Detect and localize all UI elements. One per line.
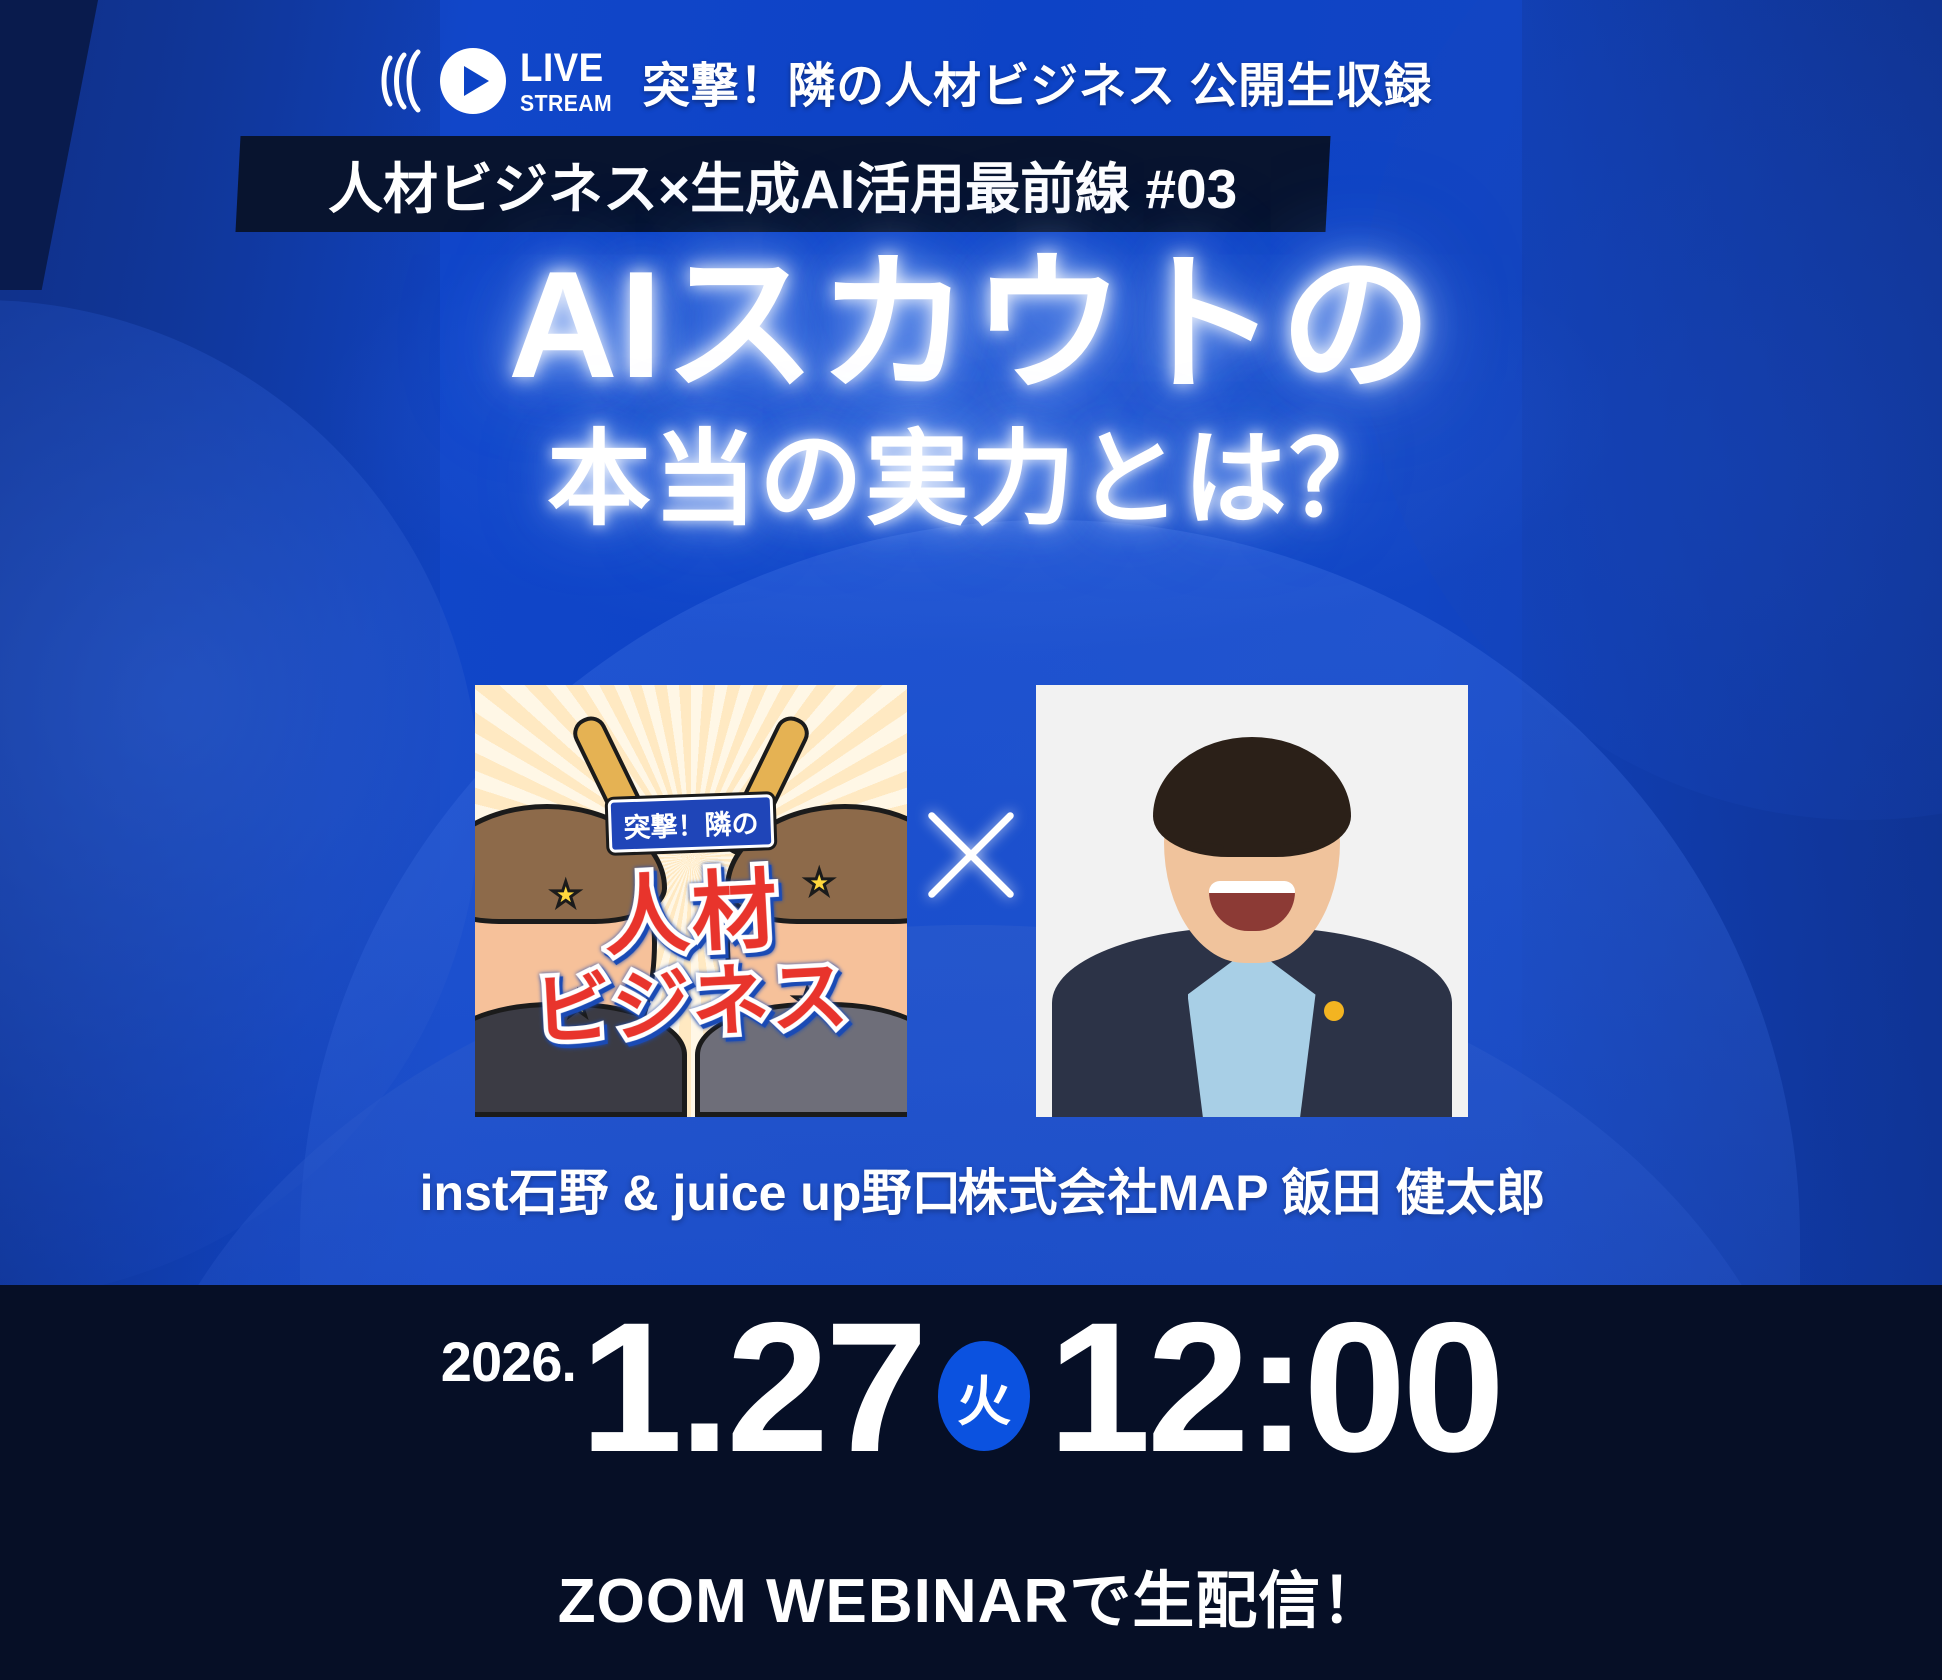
series-title: 人材ビジネス×生成AI活用最前線 #03 [328, 144, 1237, 224]
play-icon [440, 48, 506, 114]
delivery-note: ZOOM WEBINARで生配信！ [0, 1550, 1942, 1640]
speaker-left-avatar: ★ ★ ★ ★ 突撃！隣の 人材 ビジネス [475, 685, 907, 1117]
speaker-left-name: inst石野 & juice up野口 [420, 1153, 962, 1225]
podcast-cover-art: ★ ★ ★ ★ 突撃！隣の 人材 ビジネス [475, 685, 907, 1117]
series-title-bar-inner: 人材ビジネス×生成AI活用最前線 #03 [328, 144, 1237, 224]
speaker-right-name: 株式会社MAP 飯田 健太郎 [958, 1153, 1546, 1225]
live-stream-badge: LIVE STREAM [372, 48, 620, 115]
webinar-promo-banner: LIVE STREAM 突撃！隣の人材ビジネス 公開生収録 人材ビジネス×生成A… [0, 0, 1942, 1680]
live-stream-header: LIVE STREAM 突撃！隣の人材ビジネス 公開生収録 [372, 40, 1432, 122]
series-title-bar: 人材ビジネス×生成AI活用最前線 #03 [235, 136, 1330, 232]
speaker-right: 株式会社MAP 飯田 健太郎 [1034, 685, 1469, 1225]
live-label: LIVE [520, 48, 612, 88]
sparkle-icon-1: ★ [551, 875, 581, 915]
broadcast-waves-icon [372, 48, 426, 114]
schedule-footer: 2026. 1.27 火 12:00 ZOOM WEBINARで生配信！ [0, 1285, 1942, 1680]
cross-separator-icon [916, 800, 1026, 910]
play-triangle [464, 66, 489, 96]
portrait-hair [1153, 737, 1351, 857]
headline-line-2: 本当の実力とは？ [0, 423, 1942, 537]
speaker-right-avatar [1036, 685, 1468, 1117]
schedule-time: 12:00 [1048, 1303, 1501, 1473]
program-title: 突撃！隣の人材ビジネス 公開生収録 [642, 46, 1432, 116]
sparkle-icon-2: ★ [804, 863, 834, 903]
headline-line-1: AIスカウトの [0, 244, 1942, 407]
speaker-portrait-photo [1036, 685, 1468, 1117]
live-stream-text: LIVE STREAM [520, 48, 620, 115]
cover-label-bottom: ビジネス [530, 933, 851, 1061]
speaker-left: ★ ★ ★ ★ 突撃！隣の 人材 ビジネス inst石野 & juice up野… [473, 685, 908, 1225]
schedule-year: 2026. [441, 1329, 576, 1394]
schedule-day-of-week-badge: 火 [938, 1341, 1030, 1451]
schedule-date-row: 2026. 1.27 火 12:00 [0, 1303, 1942, 1473]
stream-label: STREAM [520, 92, 612, 115]
schedule-date: 1.27 [580, 1303, 924, 1473]
lapel-pin-icon [1324, 1001, 1344, 1021]
headline-block: AIスカウトの 本当の実力とは？ [0, 244, 1942, 537]
